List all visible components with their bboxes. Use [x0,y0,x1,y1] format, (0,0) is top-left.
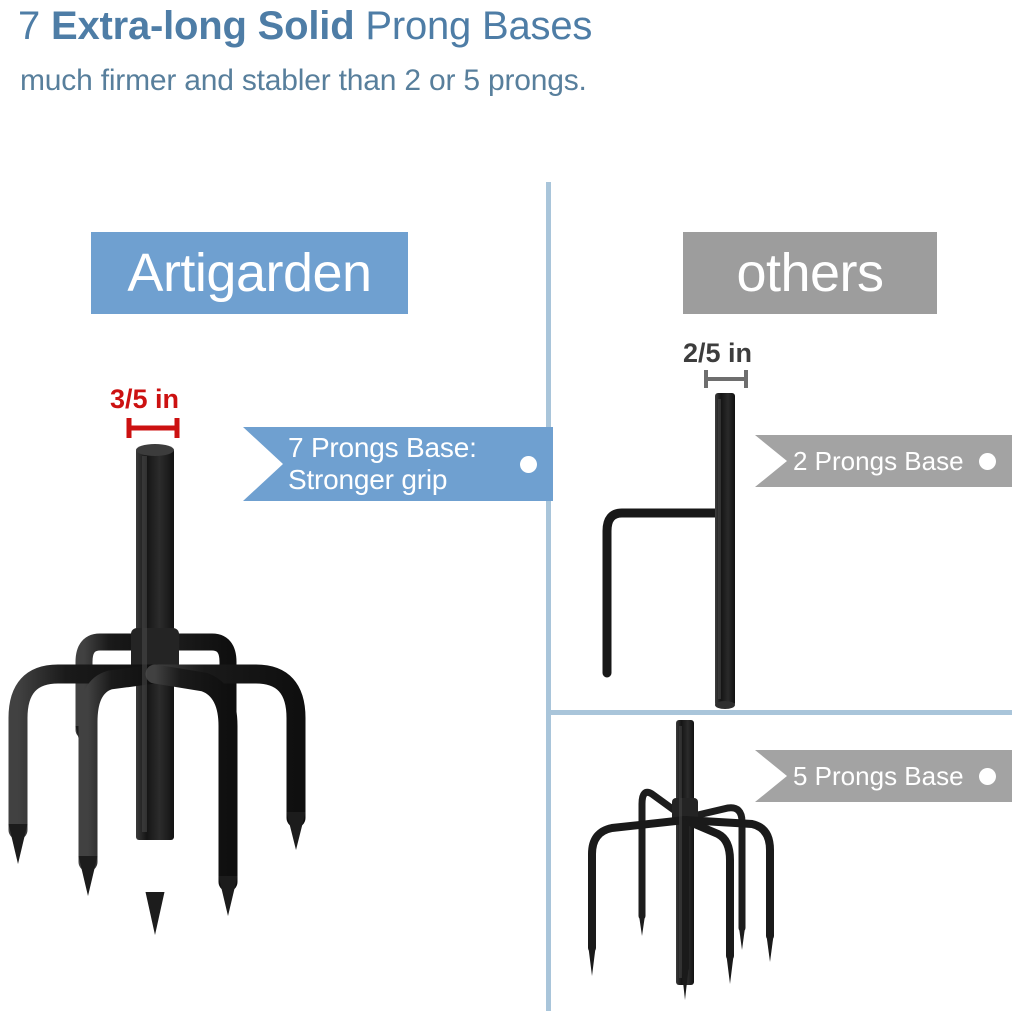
banner-7-prongs-label: 7 Prongs Base: Stronger grip [288,432,520,496]
banner-5-prongs-base: 5 Prongs Base [755,750,1012,802]
page-subtitle: much firmer and stabler than 2 or 5 pron… [20,62,587,100]
page-title-emphasis: Extra-long Solid [51,4,354,48]
page-title-suffix: Prong Bases [354,4,592,48]
dot-icon [979,453,996,470]
banner-5-prongs-label: 5 Prongs Base [793,761,979,791]
page-title-prefix: 7 [18,4,51,48]
product-illustration-2-prong [575,385,775,715]
dot-icon [520,456,537,473]
brand-label-others: others [683,232,937,314]
page-title: 7 Extra-long Solid Prong Bases [18,2,592,50]
brand-label-artigarden: Artigarden [91,232,408,314]
banner-7-prongs-base: 7 Prongs Base: Stronger grip [243,427,553,501]
product-illustration-7-prong [0,430,340,990]
banner-2-prongs-label: 2 Prongs Base [793,446,979,476]
dot-icon [979,768,996,785]
banner-2-prongs-base: 2 Prongs Base [755,435,1012,487]
divider-vertical [546,182,551,1011]
infographic-page: 7 Extra-long Solid Prong Bases much firm… [0,0,1012,1011]
dimension-label-left: 3/5 in [110,384,179,415]
